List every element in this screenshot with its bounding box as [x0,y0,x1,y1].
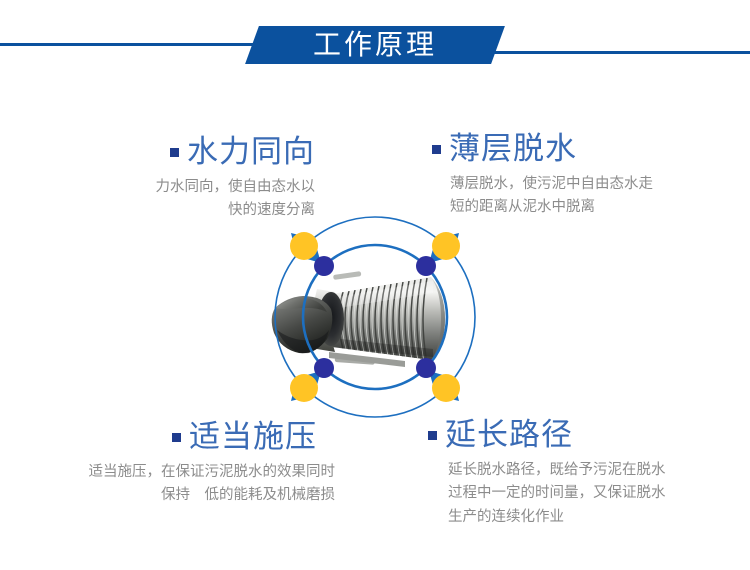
product-image-dewatering-machine [272,271,445,367]
node-yellow-bottom-left [290,374,318,402]
machine-tie-rod-top [333,271,361,280]
square-bullet-icon [172,433,181,442]
diagram-svg [255,197,495,437]
header-rule-right [490,51,750,54]
feature-title-text: 薄层脱水 [449,133,577,166]
feature-body-bottom-right: 延长脱水路径，既给予污泥在脱水 过程中一定的时间量，又保证脱水 生产的连续化作业 [428,459,734,529]
header-rule-left [0,43,268,46]
page-title: 工作原理 [252,25,498,65]
feature-title-text: 水力同向 [187,136,315,169]
feature-title-top-left: 水力同向 [10,136,315,169]
node-navy-top-left [314,256,334,276]
node-navy-bottom-left [314,358,334,378]
feature-title-top-right: 薄层脱水 [432,133,732,166]
concentric-circle-diagram [255,197,495,437]
node-navy-top-right [416,256,436,276]
node-yellow-top-left [290,232,318,260]
square-bullet-icon [170,148,179,157]
node-yellow-bottom-right [432,374,460,402]
page-root: 工作原理 水力同向 力水同向，使自由态水以 快的速度分离 薄层脱水 薄层脱水，使… [0,0,750,570]
node-yellow-top-right [432,232,460,260]
square-bullet-icon [432,145,441,154]
node-navy-bottom-right [416,358,436,378]
feature-body-bottom-left: 适当施压，在保证污泥脱水的效果同时 保持 低的能耗及机械磨损 [5,461,335,508]
header-banner-zone: 工作原理 [0,0,750,95]
